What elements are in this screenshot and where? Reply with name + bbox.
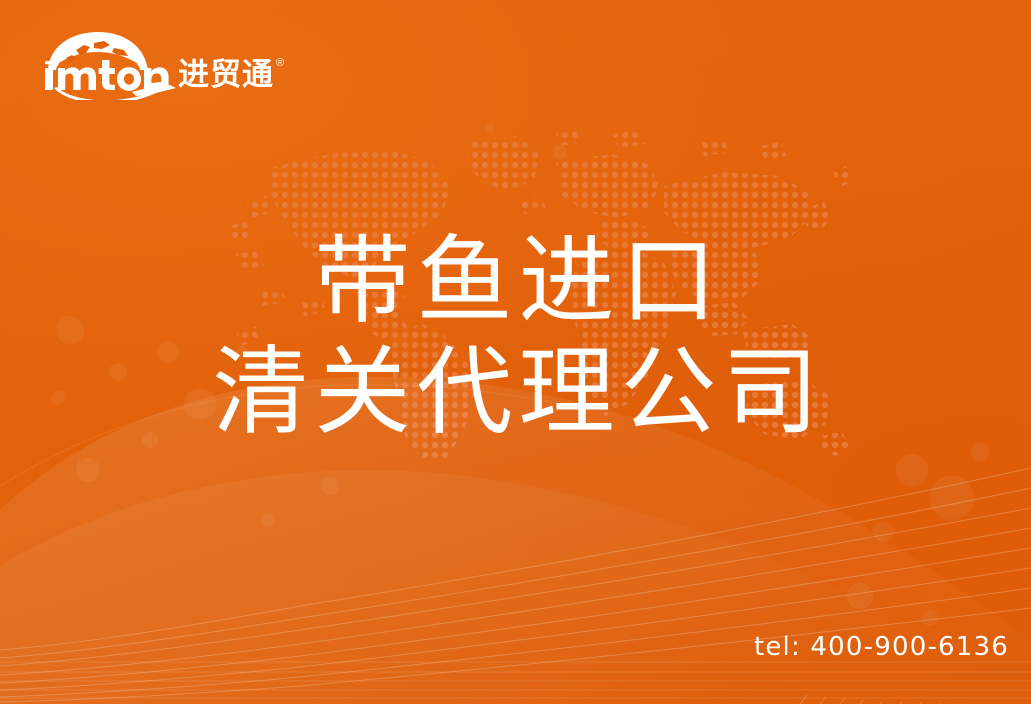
headline-block: 带鱼进口 清关代理公司 (0, 228, 1031, 449)
swoosh-arrow-icon (54, 82, 176, 100)
registered-mark-icon: ® (276, 58, 284, 69)
promo-banner: 进贸通 ® 带鱼进口 清关代理公司 tel: 400-900-6136 (0, 0, 1031, 704)
contact-phone: tel: 400-900-6136 (754, 632, 1009, 662)
headline-line-1: 带鱼进口 (0, 228, 1031, 336)
logo-chinese-name: 进贸通 ® (178, 60, 284, 91)
brand-logo[interactable]: 进贸通 ® (36, 28, 284, 100)
logo-chinese-text: 进贸通 (178, 60, 274, 91)
globe-arc-icon (48, 32, 148, 70)
headline-line-2: 清关代理公司 (0, 336, 1031, 449)
